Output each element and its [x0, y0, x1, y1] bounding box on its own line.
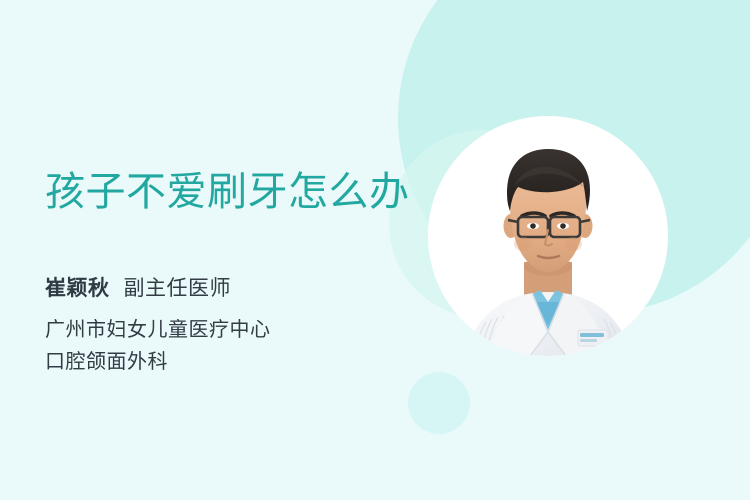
- doctor-info-card: 孩子不爱刷牙怎么办 崔颖秋副主任医师 广州市妇女儿童医疗中心 口腔颌面外科: [0, 0, 750, 500]
- doctor-hospital: 广州市妇女儿童医疗中心: [45, 314, 271, 346]
- doctor-identity-line: 崔颖秋副主任医师: [45, 272, 231, 302]
- page-title: 孩子不爱刷牙怎么办: [45, 168, 410, 216]
- doctor-department: 口腔颌面外科: [45, 346, 168, 378]
- doctor-professional-title: 副主任医师: [124, 277, 232, 300]
- decorative-circle-small: [408, 372, 470, 434]
- doctor-portrait-frame: [428, 116, 668, 356]
- doctor-name: 崔颖秋: [45, 277, 110, 300]
- text-column: 孩子不爱刷牙怎么办 崔颖秋副主任医师 广州市妇女儿童医疗中心 口腔颌面外科: [45, 0, 405, 500]
- doctor-portrait-image: [428, 116, 668, 356]
